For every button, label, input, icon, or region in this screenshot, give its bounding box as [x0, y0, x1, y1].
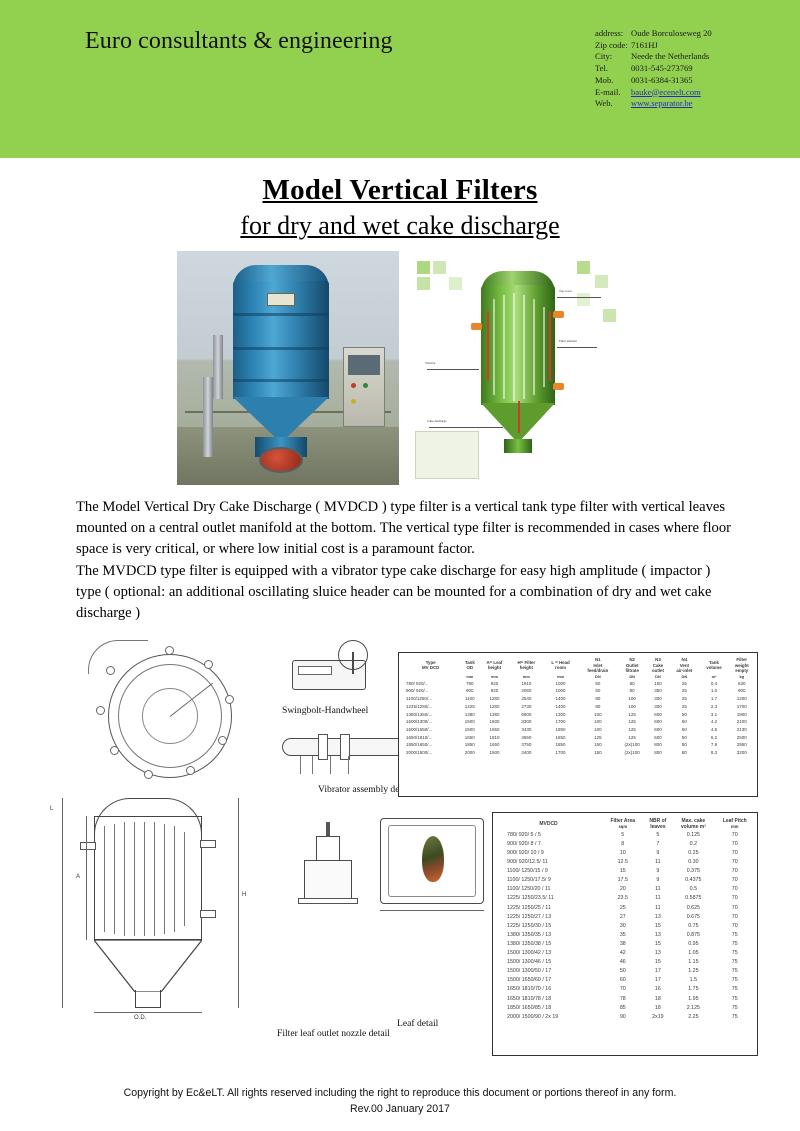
- table-cell: 9: [644, 867, 673, 876]
- table-cell: 2730: [510, 703, 544, 711]
- table-cell: 2950: [729, 741, 755, 749]
- company-name: Euro consultants & engineering: [85, 28, 393, 55]
- elev-shell: [94, 816, 202, 940]
- table-cell: 1.05: [672, 949, 714, 958]
- table-row: 1100/ 1250/17.5/ 917.590.437570: [495, 876, 755, 885]
- leaves-header-row: MVDCDFilter AreasqmNBR ofleavesMax. cake…: [495, 818, 755, 831]
- page-title: Model Vertical Filters: [0, 172, 800, 208]
- table-cell: 11: [644, 885, 673, 894]
- table-cell: (2x)100: [618, 749, 647, 757]
- table-cell: 0.4375: [672, 876, 714, 885]
- table-cell: 780/ 920/ 5 / 5: [495, 831, 602, 840]
- contact-label: City:: [595, 51, 631, 63]
- table-cell: 1.95: [672, 995, 714, 1004]
- dimension-label-l: L: [50, 806, 53, 812]
- contact-label: Web.: [595, 98, 631, 110]
- cutaway-discharge-neck: [504, 439, 532, 453]
- contact-value: 7161HJ: [631, 40, 658, 52]
- table-cell: 600: [647, 711, 670, 719]
- table-row: 1100/ 1250/20 / 1120110.570: [495, 885, 755, 894]
- dimension-line-leaf: [86, 816, 87, 940]
- table-cell: 11: [644, 894, 673, 903]
- table-cell: 38: [602, 940, 644, 949]
- table-row: 1500/ 1300/50 / 1750171.2575: [495, 967, 755, 976]
- table-cell: 0.95: [672, 940, 714, 949]
- elev-leaf-1: [104, 826, 105, 932]
- table-cell: 0.875: [672, 931, 714, 940]
- cutaway-nozzle-inlet: [471, 323, 482, 330]
- page-subtitle: for dry and wet cake discharge: [0, 209, 800, 242]
- table-cell: 1900: [729, 711, 755, 719]
- cutaway-leaf-1: [493, 299, 495, 395]
- table-cell: 1400: [543, 703, 578, 711]
- table-row: 900/ 920/12.5/ 1112.5110.3070: [495, 858, 755, 867]
- photo-pipe-left: [203, 377, 213, 457]
- table-cell: 1500/ 1300/50 / 17: [495, 967, 602, 976]
- table-cell: 150: [578, 749, 618, 757]
- column-header: TypeMV DCD: [401, 657, 460, 674]
- table-cell: 18: [644, 1004, 673, 1013]
- table-cell: 17: [644, 976, 673, 985]
- table-cell: 1850: [543, 734, 578, 742]
- table-cell: 70: [715, 876, 755, 885]
- table-cell: 125: [618, 718, 647, 726]
- table-cell: 1225/ 1250/30 / 15: [495, 922, 602, 931]
- table-cell: 1380/ 1350/38 / 15: [495, 940, 602, 949]
- caption-nozzle: Filter leaf outlet nozzle detail: [277, 1028, 390, 1039]
- footer-revision: Rev.00 January 2017: [0, 1101, 800, 1117]
- table-cell: 70: [715, 831, 755, 840]
- column-header: L = Headroom: [543, 657, 578, 674]
- table-cell: 1250: [479, 703, 509, 711]
- table-row: 780/ 920/...780920191010005080150250.463…: [401, 680, 755, 688]
- table-cell: 800: [647, 741, 670, 749]
- table-cell: 70: [602, 985, 644, 994]
- bolt-8: [96, 706, 105, 715]
- table-cell: 6.2: [699, 734, 728, 742]
- table-cell: 1350: [479, 711, 509, 719]
- table-cell: 100: [578, 726, 618, 734]
- table-cell: 1200: [729, 695, 755, 703]
- table-cell: 50: [669, 711, 699, 719]
- table-row: 1225/1250/...122512502730140080100300252…: [401, 703, 755, 711]
- panel-button-2: [363, 383, 368, 388]
- leaf-dimension-line: [380, 910, 484, 911]
- table-cell: 300: [647, 703, 670, 711]
- table-cell: 50: [669, 726, 699, 734]
- table-cell: 80: [578, 703, 618, 711]
- table-cell: 1700: [543, 749, 578, 757]
- table-cell: 900/ 920/...: [401, 687, 460, 695]
- contact-label: Mob.: [595, 75, 631, 87]
- column-header: NBR ofleaves: [644, 818, 673, 831]
- contact-value: 0031-6384-31365: [631, 75, 693, 87]
- table-cell: 15: [644, 922, 673, 931]
- contact-block: address:Oude Borculoseweg 20Zip code:716…: [595, 28, 712, 110]
- table-cell: 70: [715, 894, 755, 903]
- contact-label: address:: [595, 28, 631, 40]
- table-cell: 1650/1810/...: [401, 734, 460, 742]
- table-cell: 900/ 920/ 10 / 9: [495, 849, 602, 858]
- table-cell: 1500/ 1650/60 / 17: [495, 976, 602, 985]
- flow-arrow-bottom: [518, 401, 520, 433]
- table-cell: 780/ 920/...: [401, 680, 460, 688]
- table-cell: 0.75: [672, 922, 714, 931]
- table-cell: 1810: [479, 734, 509, 742]
- table-cell: 600: [647, 726, 670, 734]
- table-cell: 0.375: [672, 867, 714, 876]
- photo-pipe-upper: [213, 335, 223, 399]
- table-cell: 1225: [460, 703, 479, 711]
- bolt-6: [144, 770, 153, 779]
- table-cell: 1500: [460, 718, 479, 726]
- table-cell: 25: [669, 703, 699, 711]
- swingbolt-pin: [298, 666, 332, 675]
- contact-row[interactable]: E-mail.bauke@ecenelt.com: [595, 87, 712, 99]
- table-cell: 125: [618, 726, 647, 734]
- table-row: 1650/ 1810/78 / 1878181.9575: [495, 995, 755, 1004]
- contact-row: address:Oude Borculoseweg 20: [595, 28, 712, 40]
- table-cell: 1.0: [699, 687, 728, 695]
- table-cell: 0.5875: [672, 894, 714, 903]
- dimensions-table-body: 780/ 920/...780920191010005080150250.463…: [401, 680, 755, 757]
- table-row: 1380/ 1350/35 / 1335130.87575: [495, 931, 755, 940]
- panel-button-1: [351, 383, 356, 388]
- table-cell: 1500/1300/...: [401, 718, 460, 726]
- deco-square-7: [577, 293, 590, 306]
- dimensions-header-row: TypeMV DCDTankODA= LeafheightH= Filterhe…: [401, 657, 755, 674]
- dimension-label-od: O.D.: [134, 1015, 146, 1021]
- table-cell: 25: [669, 680, 699, 688]
- table-cell: 18: [644, 995, 673, 1004]
- table-cell: 150: [647, 680, 670, 688]
- deco-square-8: [603, 309, 616, 322]
- panel-button-3: [351, 399, 356, 404]
- deco-square-6: [595, 275, 608, 288]
- dimension-line-od: [94, 1012, 202, 1013]
- table-cell: 1850: [543, 726, 578, 734]
- table-cell: 1000: [543, 687, 578, 695]
- table-cell: 1.5: [672, 976, 714, 985]
- deco-square-5: [577, 261, 590, 274]
- leaf-cake-sample: [422, 836, 444, 882]
- table-cell: 2000/1500/...: [401, 749, 460, 757]
- table-cell: 1500: [479, 718, 509, 726]
- table-cell: (2x)100: [618, 741, 647, 749]
- table-cell: 1500: [460, 726, 479, 734]
- table-cell: 1380/1350/...: [401, 711, 460, 719]
- vessel-band-3: [233, 379, 329, 382]
- caption-leaf: Leaf detail: [397, 1018, 438, 1029]
- table-cell: 350: [647, 687, 670, 695]
- table-cell: 1100/ 1250/15 / 9: [495, 867, 602, 876]
- table-cell: 75: [715, 931, 755, 940]
- vibrator-leg-4: [348, 756, 349, 774]
- table-cell: 0.30: [672, 858, 714, 867]
- column-header: H= Filterheight: [510, 657, 544, 674]
- table-row: 1225/ 1250/27 / 1327130.67570: [495, 913, 755, 922]
- table-cell: 920: [479, 680, 509, 688]
- table-cell: 13: [644, 913, 673, 922]
- table-cell: 60: [602, 976, 644, 985]
- cutaway-leaf-3: [513, 293, 515, 401]
- column-header: N4Ventair-inlet: [669, 657, 699, 674]
- vibrator-leg-1: [300, 756, 301, 774]
- table-cell: 900: [729, 687, 755, 695]
- column-header: N2Outletfiltrate: [618, 657, 647, 674]
- table-cell: 3200: [729, 749, 755, 757]
- table-cell: 900: [460, 687, 479, 695]
- dimension-label-h: H: [242, 892, 246, 898]
- dimension-line-overall: [238, 798, 239, 1008]
- deco-square-3: [417, 277, 430, 290]
- elev-nozzle-n2: [200, 910, 216, 918]
- deco-square-2: [433, 261, 446, 274]
- vibrator-collar-1: [318, 734, 328, 760]
- table-cell: 4.5: [699, 726, 728, 734]
- callout-line-2: [557, 347, 597, 348]
- callout-label-2: Filter element: [559, 339, 577, 343]
- column-header: N1Inletfeed/drain: [578, 657, 618, 674]
- table-cell: 13: [644, 931, 673, 940]
- table-cell: 70: [715, 913, 755, 922]
- table-cell: 150: [578, 741, 618, 749]
- table-cell: 2540: [510, 695, 544, 703]
- column-header: A= Leafheight: [479, 657, 509, 674]
- elev-leaf-6: [154, 822, 155, 936]
- bolt-7: [110, 746, 119, 755]
- table-cell: 27: [602, 913, 644, 922]
- table-cell: 2050: [510, 687, 544, 695]
- table-cell: 2.25: [672, 1013, 714, 1022]
- leaves-table-container: MVDCDFilter AreasqmNBR ofleavesMax. cake…: [492, 812, 758, 1056]
- table-cell: 1650: [460, 734, 479, 742]
- table-cell: 100: [618, 695, 647, 703]
- table-cell: 0.4: [699, 680, 728, 688]
- table-cell: 70: [715, 858, 755, 867]
- table-cell: 11: [644, 904, 673, 913]
- table-cell: 1225/1250/...: [401, 703, 460, 711]
- contact-label: Zip code:: [595, 40, 631, 52]
- table-cell: 1380: [460, 711, 479, 719]
- table-cell: 70: [715, 904, 755, 913]
- elev-leaf-4: [134, 822, 135, 936]
- table-cell: 1650: [479, 741, 509, 749]
- table-cell: 1500/ 1300/46 / 15: [495, 958, 602, 967]
- table-row: 2000/ 1500/90 / 2x 19902x192.2575: [495, 1013, 755, 1022]
- table-cell: 80: [618, 680, 647, 688]
- table-cell: 80: [578, 695, 618, 703]
- table-cell: 70: [715, 867, 755, 876]
- contact-row[interactable]: Web.www.separator.be: [595, 98, 712, 110]
- elev-leaf-2: [114, 824, 115, 934]
- callout-line-3: [427, 369, 479, 370]
- contact-link[interactable]: bauke@ecenelt.com: [631, 87, 701, 99]
- vibrator-leg-3: [330, 756, 331, 774]
- contact-row: Zip code:7161HJ: [595, 40, 712, 52]
- leaves-table-body: 780/ 920/ 5 / 5550.12570900/ 920/ 8 / 78…: [495, 831, 755, 1022]
- column-header: Tankvolume: [699, 657, 728, 674]
- elev-leaf-9: [184, 832, 185, 926]
- contact-value: Oude Borculoseweg 20: [631, 28, 712, 40]
- table-row: 780/ 920/ 5 / 5550.12570: [495, 831, 755, 840]
- dimensions-table-container: TypeMV DCDTankODA= LeafheightH= Filterhe…: [398, 652, 758, 797]
- table-cell: 1380/ 1350/35 / 13: [495, 931, 602, 940]
- contact-row: City:Neede the Netherlands: [595, 51, 712, 63]
- table-cell: 2000: [460, 749, 479, 757]
- table-cell: 80: [669, 749, 699, 757]
- table-row: 1850/1650/...1850165037501850150(2x)1008…: [401, 741, 755, 749]
- vessel-band-2: [233, 347, 329, 350]
- contact-row: Mob.0031-6384-31365: [595, 75, 712, 87]
- leaf-detail-drawing: [374, 812, 492, 918]
- leaves-table-head: MVDCDFilter AreasqmNBR ofleavesMax. cake…: [495, 818, 755, 831]
- table-row: 1500/1650/...150016503430185010012560050…: [401, 726, 755, 734]
- column-header: Leaf Pitchmm: [715, 818, 755, 831]
- table-row: 1380/ 1350/38 / 1538150.9575: [495, 940, 755, 949]
- leaves-table: MVDCDFilter AreasqmNBR ofleavesMax. cake…: [495, 818, 755, 1022]
- table-cell: 70: [715, 840, 755, 849]
- table-cell: 125: [618, 711, 647, 719]
- table-cell: 25: [669, 695, 699, 703]
- table-cell: 30: [602, 922, 644, 931]
- column-header: Max. cakevolume m³: [672, 818, 714, 831]
- table-cell: 80: [618, 687, 647, 695]
- table-cell: 9: [644, 849, 673, 858]
- table-cell: 70: [715, 922, 755, 931]
- table-cell: 16: [644, 985, 673, 994]
- table-cell: 10: [602, 849, 644, 858]
- table-cell: 1500/1650/...: [401, 726, 460, 734]
- table-row: 1380/1350/...138013506800130010012560050…: [401, 711, 755, 719]
- table-row: 1500/ 1300/46 / 1546151.1575: [495, 958, 755, 967]
- table-cell: 3.1: [699, 711, 728, 719]
- table-cell: 600: [647, 718, 670, 726]
- table-cell: 1100/1250/...: [401, 695, 460, 703]
- bolt-2: [204, 660, 213, 669]
- table-cell: 80: [669, 741, 699, 749]
- table-cell: 15: [644, 940, 673, 949]
- nozzle-base-plate: [298, 898, 358, 904]
- contact-link[interactable]: www.separator.be: [631, 98, 693, 110]
- table-row: 1500/ 1650/60 / 1760171.575: [495, 976, 755, 985]
- table-cell: 1850/ 1650/85 / 18: [495, 1004, 602, 1013]
- table-cell: 1910: [510, 680, 544, 688]
- table-cell: 100: [618, 703, 647, 711]
- table-row: 1850/ 1650/85 / 1885182.12575: [495, 1004, 755, 1013]
- vessel-nameplate: [267, 293, 295, 306]
- table-cell: 17.5: [602, 876, 644, 885]
- table-cell: 50: [578, 680, 618, 688]
- photo-row: Top cover Filter element Vibrator Cake d…: [0, 251, 800, 485]
- page-header-band: Euro consultants & engineering address:O…: [0, 0, 800, 158]
- elev-leaf-8: [174, 826, 175, 932]
- table-row: 1500/ 1300/42 / 1342131.0575: [495, 949, 755, 958]
- table-cell: 800: [647, 749, 670, 757]
- table-cell: 75: [715, 949, 755, 958]
- flow-arrow-left: [487, 311, 489, 381]
- table-row: 1100/ 1250/15 / 91590.37570: [495, 867, 755, 876]
- table-cell: 75: [715, 976, 755, 985]
- elev-nozzle-n1: [80, 842, 96, 850]
- table-cell: 9: [644, 876, 673, 885]
- table-cell: 1850: [543, 741, 578, 749]
- table-cell: 75: [715, 967, 755, 976]
- table-cell: 900/ 920/ 8 / 7: [495, 840, 602, 849]
- dimension-line-height: [62, 798, 63, 1008]
- table-cell: 780: [460, 680, 479, 688]
- table-cell: 4.2: [699, 718, 728, 726]
- table-row: 1650/ 1810/70 / 1670161.7575: [495, 985, 755, 994]
- table-cell: 15: [602, 867, 644, 876]
- bolt-4: [218, 736, 227, 745]
- table-cell: 920: [479, 687, 509, 695]
- table-cell: 17: [644, 967, 673, 976]
- footer-copyright: Copyright by Ec&eLT. All rights reserved…: [0, 1085, 800, 1101]
- cutaway-leaf-6: [543, 307, 545, 387]
- table-row: 1650/1810/...165018103650185012512560050…: [401, 734, 755, 742]
- dimensions-table-head: TypeMV DCDTankODA= LeafheightH= Filterhe…: [401, 657, 755, 680]
- cutaway-leaf-5: [533, 299, 535, 395]
- flow-arrow-right: [549, 311, 551, 381]
- elev-discharge-neck: [135, 990, 161, 1008]
- table-cell: 2000/ 1500/90 / 2x 19: [495, 1013, 602, 1022]
- table-cell: 50: [669, 718, 699, 726]
- table-cell: 75: [715, 958, 755, 967]
- cutaway-nozzle-vent: [553, 311, 564, 318]
- column-header: Filterweightempty: [729, 657, 755, 674]
- table-cell: 3650: [510, 734, 544, 742]
- column-header: MVDCD: [495, 818, 602, 831]
- table-row: 1225/ 1250/25 / 1125110.62570: [495, 904, 755, 913]
- vessel-band-1: [233, 313, 329, 316]
- callout-label-3: Vibrator: [425, 361, 436, 365]
- contact-value: 0031-545-273769: [631, 63, 693, 75]
- table-row: 1500/1300/...150015003300170010012560050…: [401, 718, 755, 726]
- table-cell: 125: [618, 734, 647, 742]
- table-cell: 1250: [479, 695, 509, 703]
- table-cell: 630: [729, 680, 755, 688]
- caption-swingbolt: Swingbolt-Handwheel: [282, 705, 368, 716]
- callout-line-4: [429, 427, 503, 428]
- table-cell: 1225/ 1250/27 / 13: [495, 913, 602, 922]
- table-cell: 1850/1650/...: [401, 741, 460, 749]
- table-cell: 2500: [729, 734, 755, 742]
- table-cell: 3300: [510, 718, 544, 726]
- page-footer: Copyright by Ec&eLT. All rights reserved…: [0, 1085, 800, 1117]
- table-cell: 50: [669, 734, 699, 742]
- table-cell: 13: [644, 949, 673, 958]
- table-cell: 1100: [460, 695, 479, 703]
- table-cell: 46: [602, 958, 644, 967]
- table-cell: 90: [602, 1013, 644, 1022]
- table-cell: 1225/ 1250/25 / 11: [495, 904, 602, 913]
- table-cell: 3400: [510, 749, 544, 757]
- table-cell: 1.15: [672, 958, 714, 967]
- callout-line-1: [557, 297, 601, 298]
- body-text: The Model Vertical Dry Cake Discharge ( …: [76, 497, 738, 624]
- table-cell: 0.125: [672, 831, 714, 840]
- table-cell: 1100/ 1250/20 / 11: [495, 885, 602, 894]
- table-cell: 78: [602, 995, 644, 1004]
- green-cutaway-filter-diagram: Top cover Filter element Vibrator Cake d…: [409, 251, 623, 485]
- contact-value: Neede the Netherlands: [631, 51, 709, 63]
- elev-leaf-5: [144, 822, 145, 936]
- callout-label-1: Top cover: [559, 289, 572, 293]
- table-cell: 1400: [543, 695, 578, 703]
- table-cell: 1.75: [672, 985, 714, 994]
- table-cell: 75: [715, 940, 755, 949]
